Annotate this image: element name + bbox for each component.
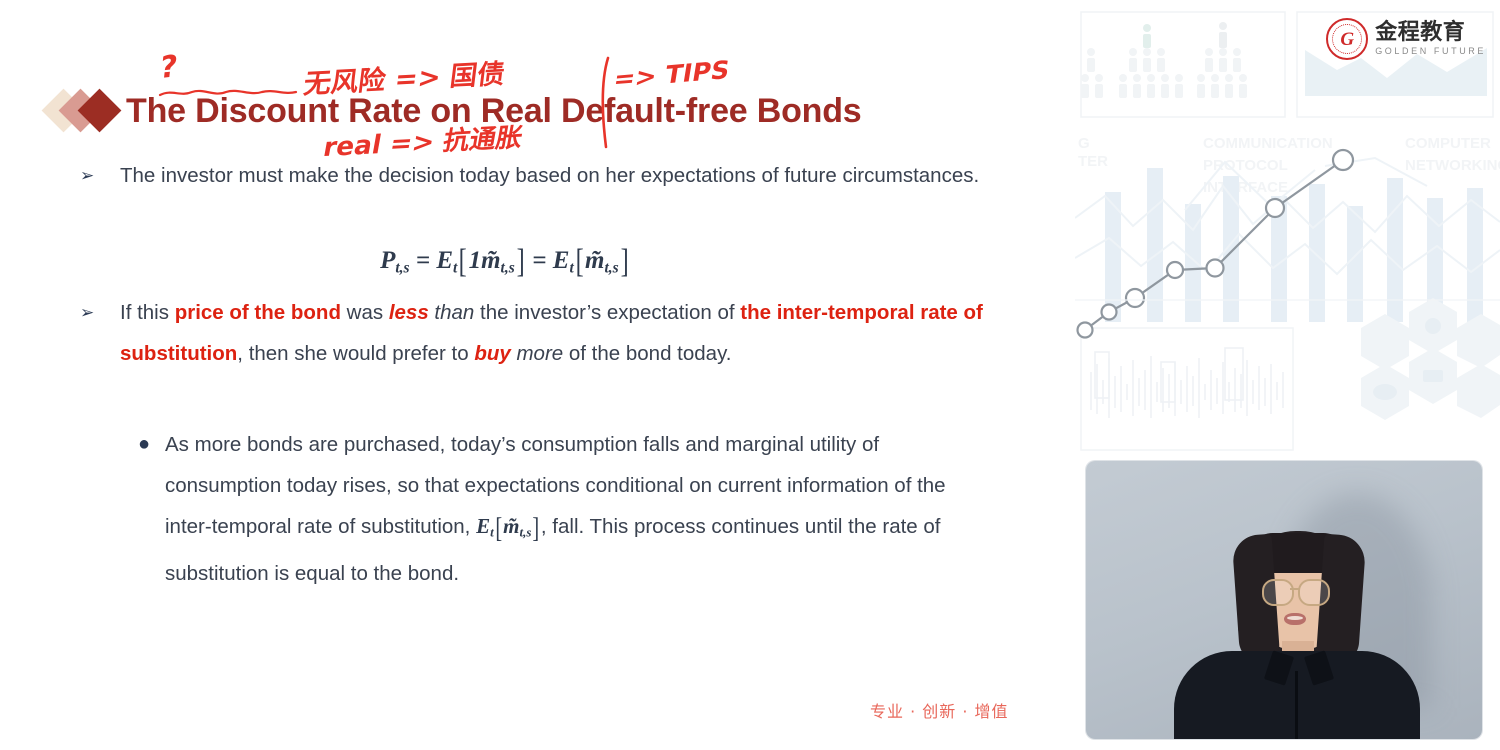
bullet-paragraph-3: As more bonds are purchased, today’s con… [165,424,995,594]
bullet-marker-1: ➢ [80,155,94,196]
faint-candlestick-sparkline [1091,356,1283,418]
faint-bar-chart [1105,168,1483,322]
formula-equals-1: = [410,247,437,274]
formula-E-1: E [436,247,453,274]
faint-labels: G TER COMMUNICATION PROTOCOL INTERFACE C… [1078,135,1500,196]
b2-seg-11: of the bond today. [563,342,731,365]
presenter-teeth [1287,616,1303,620]
people-pictogram-group [1081,22,1247,98]
b2-italic-more: more [511,342,563,365]
svg-text:COMMUNICATION: COMMUNICATION [1203,135,1333,152]
formula-P: P [380,247,395,274]
brand-name-en: GOLDEN FUTURE [1375,47,1486,56]
brand-name-cn: 金程教育 [1375,22,1486,44]
annotation-question-mark: ? [158,49,179,86]
inline-formula-E: E [476,514,490,538]
formula-E-2: E [553,247,570,274]
formula-one: 1 [469,247,482,274]
bullet-marker-2: ➢ [80,292,94,333]
inline-formula-close-bracket: ] [533,508,540,549]
b2-seg-6: the investor’s expectation of [474,301,740,324]
b2-highlight-buy: buy [474,342,510,365]
b2-highlight-price-of-bond: price of the bond [175,301,341,324]
b2-italic-than: than [429,301,475,324]
presenter-placket [1295,671,1298,739]
formula-E-1-sub: t [453,259,457,276]
bullet-paragraph-2: If this price of the bond was less than … [120,292,1015,374]
seal-icon: G [1326,18,1368,60]
formula-equals-2: = [526,247,553,274]
inline-formula-m-sub: t,s [520,525,532,540]
inline-formula: Et[m̃t,s] [476,514,541,538]
formula-open-bracket-1: [ [459,243,467,281]
formula-m-1: m̃ [481,247,500,274]
presenter-video-panel[interactable] [1086,461,1482,739]
faint-hexagon-group [1361,298,1500,420]
bullet-marker-3: ● [138,424,150,465]
inline-formula-E-sub: t [490,525,494,540]
annotation-squiggle-underline [158,88,298,98]
formula-m-2-sub: t,s [604,259,618,276]
annotation-vertical-brace [598,55,632,150]
footer-slogan: 专业 · 创新 · 增值 [870,698,1009,722]
brand-logo: G 金程教育 GOLDEN FUTURE [1326,18,1486,60]
svg-text:NETWORKING: NETWORKING [1405,157,1500,174]
b2-seg-8: , then she would prefer to [237,342,474,365]
b2-seg-3: was [341,301,389,324]
sidebar-pane: G TER COMMUNICATION PROTOCOL INTERFACE C… [1075,0,1500,750]
background-infographic: G TER COMMUNICATION PROTOCOL INTERFACE C… [1075,0,1500,460]
svg-text:COMPUTER: COMPUTER [1405,135,1491,152]
slide-root: The Discount Rate on Real Default-free B… [0,0,1500,750]
inline-formula-open-bracket: [ [495,508,502,549]
svg-text:G: G [1078,135,1090,152]
glasses-lens-right [1298,579,1330,606]
title-diamond-decoration [48,88,126,134]
inline-formula-m: m̃ [503,514,519,538]
svg-text:TER: TER [1078,153,1108,170]
formula-close-bracket-1: ] [516,243,524,281]
slide-content-pane: The Discount Rate on Real Default-free B… [0,0,1075,750]
formula-E-2-sub: t [569,259,573,276]
glasses-bridge [1290,588,1299,590]
formula-P-sub: t,s [395,259,409,276]
bullet-paragraph-1: The investor must make the decision toda… [120,155,1000,196]
b2-highlight-less: less [389,301,429,324]
formula-open-bracket-2: [ [575,243,583,281]
formula-m-1-sub: t,s [501,259,515,276]
glasses-lens-left [1262,579,1294,606]
display-formula: Pt,s = Et[1m̃t,s] = Et[m̃t,s] [0,243,1010,281]
seal-glyph: G [1340,30,1354,49]
formula-m-2: m̃ [585,247,604,274]
b2-seg-1: If this [120,301,175,324]
brand-logo-text: 金程教育 GOLDEN FUTURE [1375,22,1486,56]
formula-close-bracket-2: ] [620,243,628,281]
svg-text:PROTOCOL: PROTOCOL [1203,157,1288,174]
